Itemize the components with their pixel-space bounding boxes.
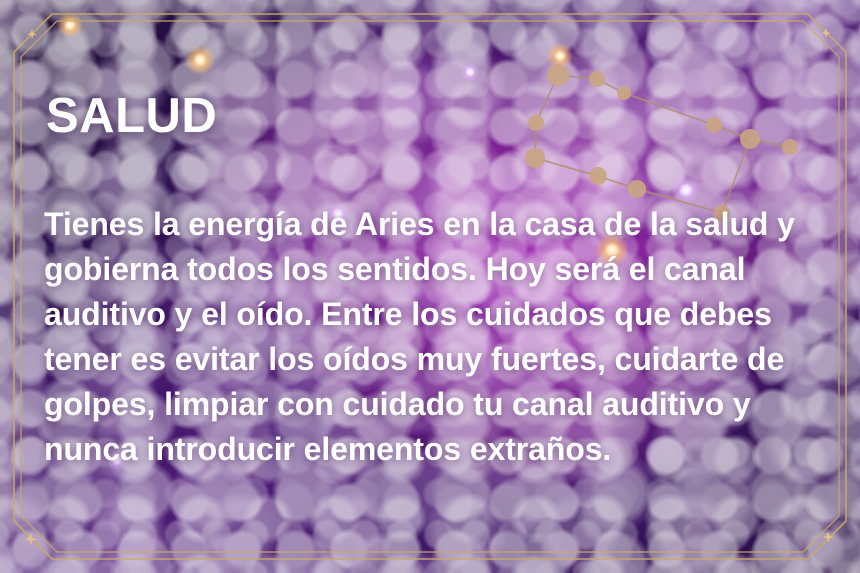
page-title: SALUD xyxy=(46,92,217,141)
horoscope-body-text: Tienes la energía de Aries en la casa de… xyxy=(44,202,834,472)
horoscope-card: SALUD Tienes la energía de Aries en la c… xyxy=(0,0,860,573)
card-content: SALUD Tienes la energía de Aries en la c… xyxy=(0,0,860,573)
